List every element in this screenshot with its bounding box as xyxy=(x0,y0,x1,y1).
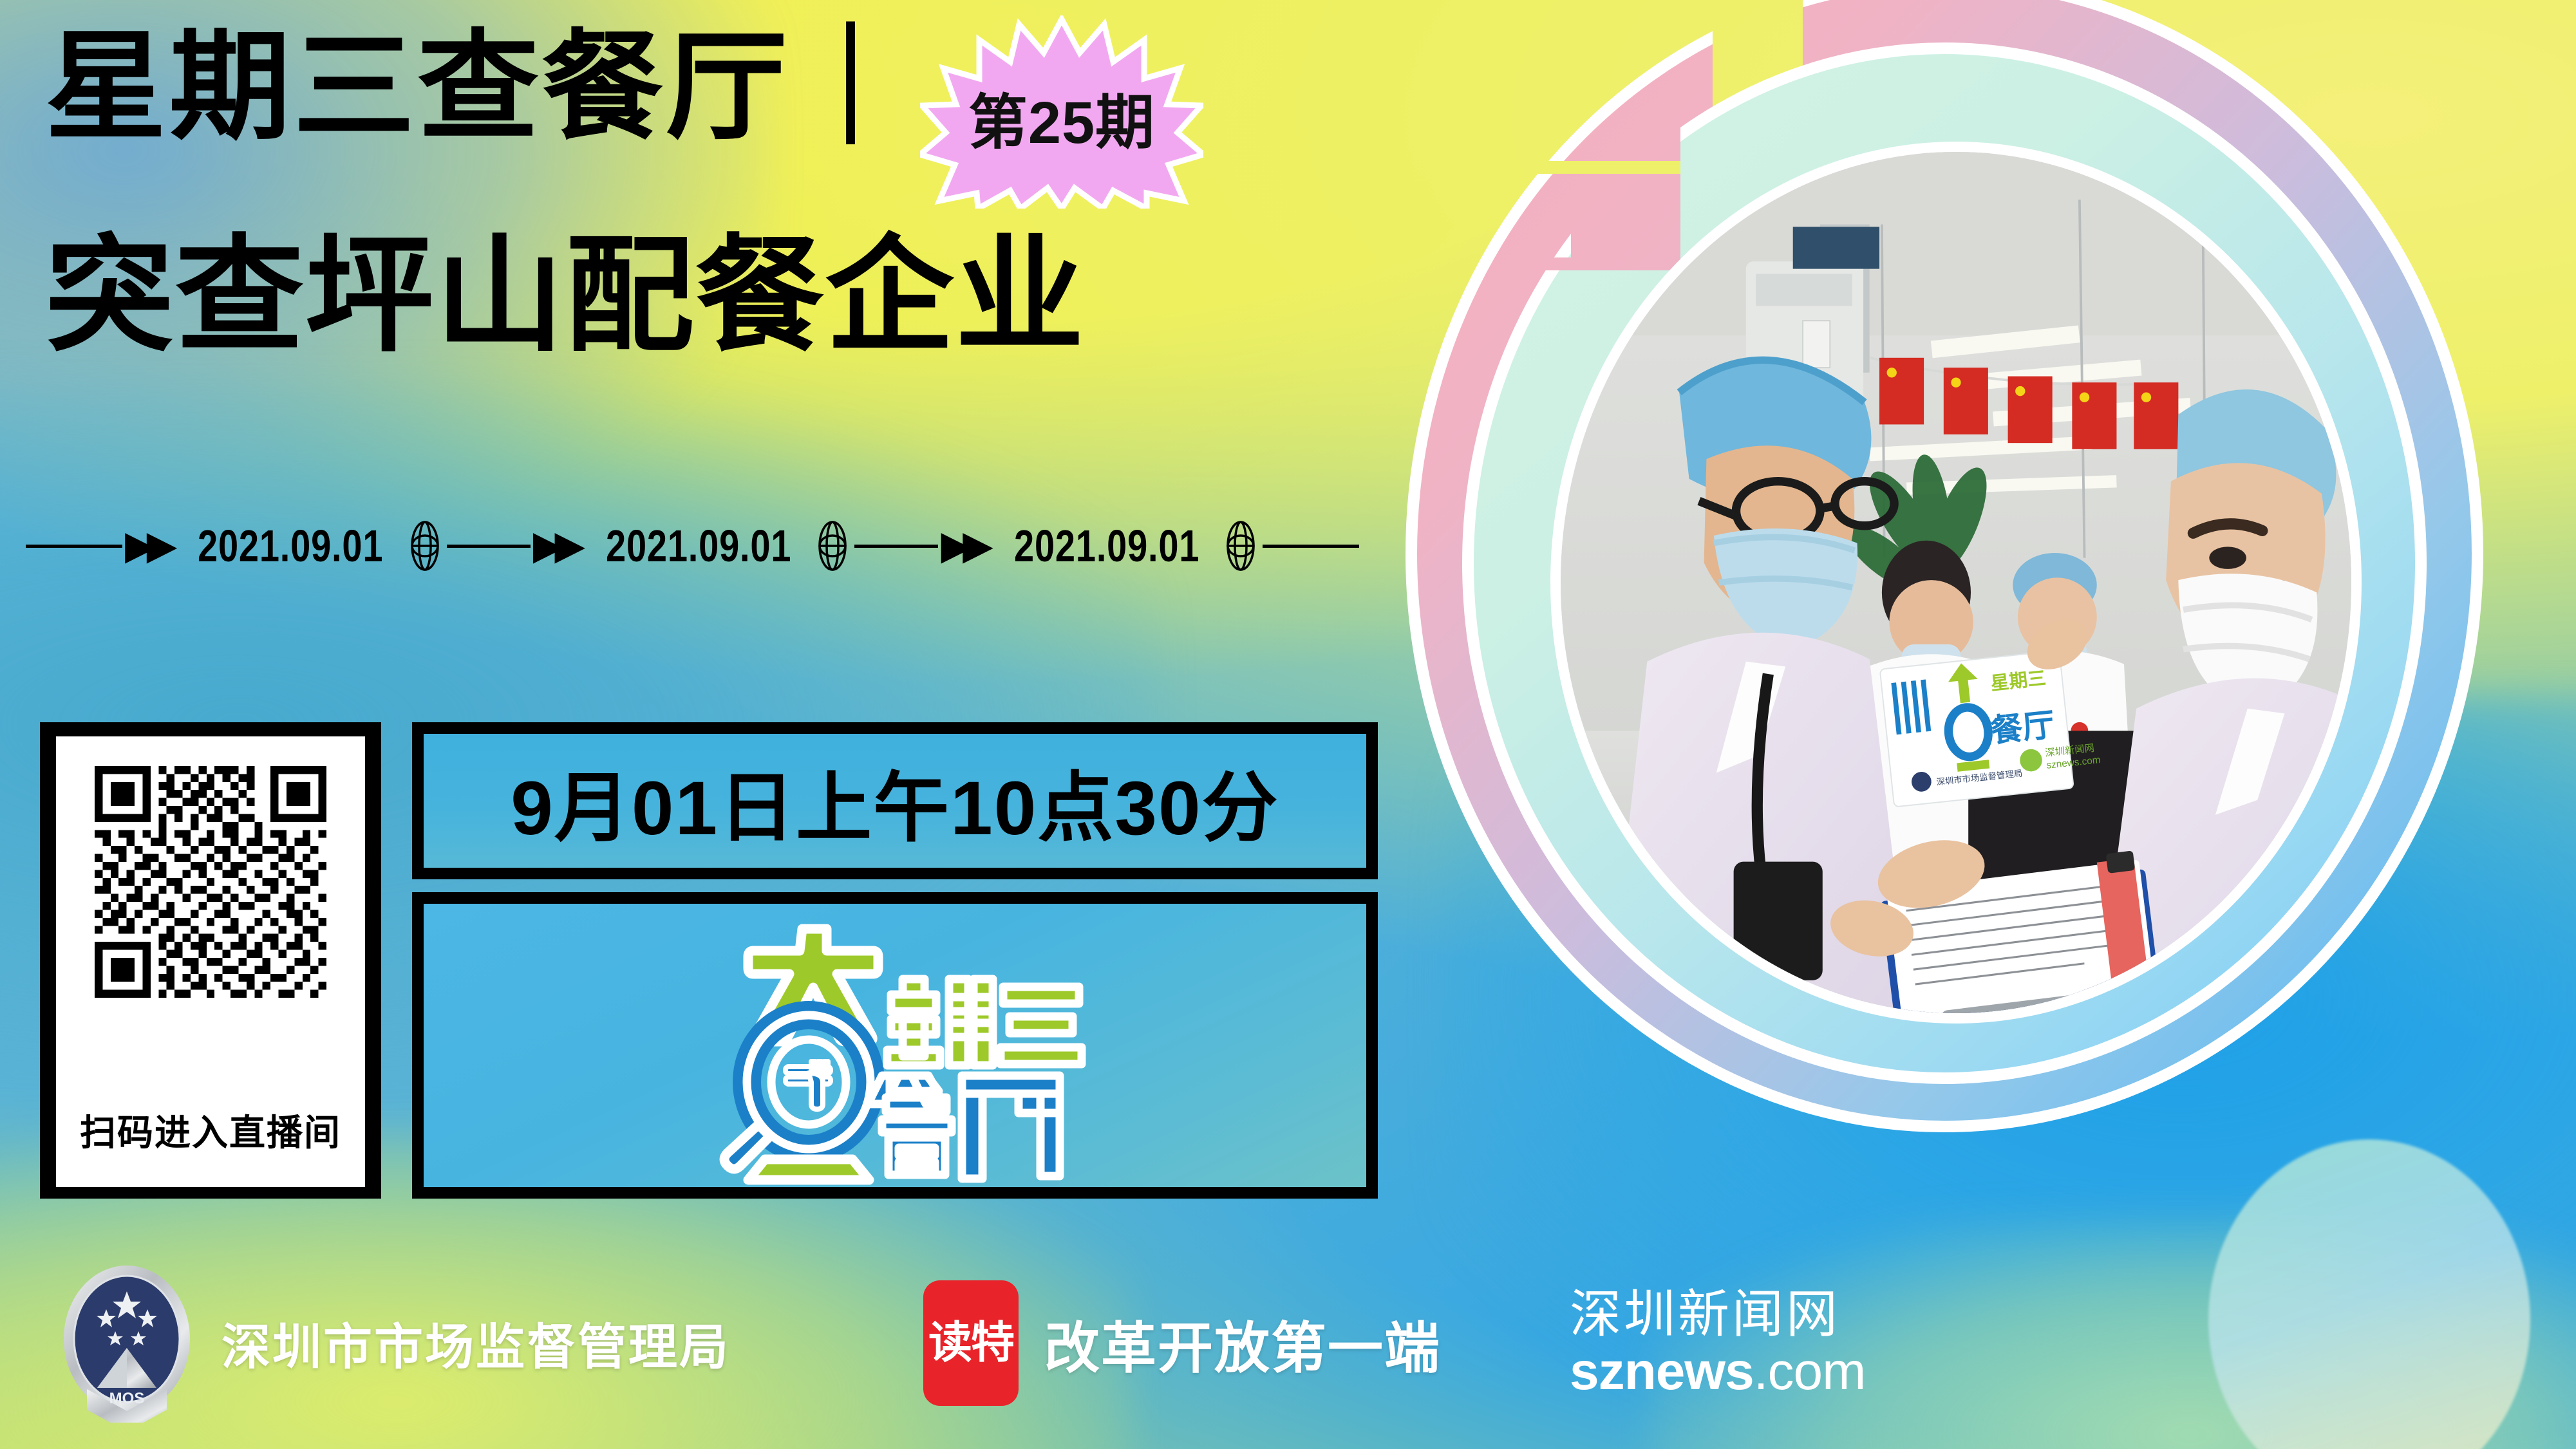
schedule-box: 9月01日上午10点30分 xyxy=(412,722,1378,879)
info-stack: 9月01日上午10点30分 xyxy=(412,722,1378,1199)
footer-dute-block: 读特 改革开放第一端 xyxy=(923,1280,1441,1406)
dute-badge: 读特 xyxy=(923,1280,1019,1406)
footer-sznews-en-rest: .com xyxy=(1754,1342,1866,1401)
footer-sznews-en-bold: sznews xyxy=(1570,1342,1754,1401)
poster-root: 星期三 餐厅 深圳新闻网 sznews.com 深圳市市场监督管理局 xyxy=(0,0,2576,1449)
qr-code-icon[interactable] xyxy=(95,766,326,998)
date-strip-rule xyxy=(447,545,531,548)
qr-card[interactable]: 扫码进入直播间 xyxy=(40,722,381,1199)
globe-icon xyxy=(1224,521,1257,571)
mos-emblem-icon: MOS xyxy=(61,1263,193,1423)
inspection-photo: 星期三 餐厅 深圳新闻网 sznews.com 深圳市市场监督管理局 xyxy=(1550,142,2362,1024)
footer-dute-label: 改革开放第一端 xyxy=(1044,1303,1441,1383)
date-strip-date-1: 2021.09.01 xyxy=(198,520,383,572)
double-arrow-icon: ▶▶ xyxy=(125,526,168,566)
svg-text:餐厅: 餐厅 xyxy=(1989,707,2056,749)
inspection-photo-illustration: 星期三 餐厅 深圳新闻网 sznews.com 深圳市市场监督管理局 xyxy=(1561,152,2351,1013)
magnifier-fork-icon xyxy=(689,904,1101,1187)
poster-title-line-2: 突查坪山配餐企业 xyxy=(45,233,1444,359)
double-arrow-icon: ▶▶ xyxy=(533,526,576,566)
footer-sznews-en: sznews.com xyxy=(1570,1345,1865,1398)
footer-mos-block: MOS 深圳市市场监督管理局 xyxy=(61,1263,730,1423)
photo-frame: 星期三 餐厅 深圳新闻网 sznews.com 深圳市市场监督管理局 xyxy=(1378,0,2511,1197)
double-arrow-icon: ▶▶ xyxy=(941,526,984,566)
date-strip: ▶▶ 2021.09.01 ▶▶ 2021.09.01 ▶▶ 2021.09.0… xyxy=(26,515,1397,577)
date-strip-rule xyxy=(26,545,122,548)
schedule-time: 9月01日上午10点30分 xyxy=(511,746,1279,856)
poster-title-line-1: 星期三查餐厅｜ xyxy=(45,28,914,147)
issue-badge: 第25期 xyxy=(920,15,1203,209)
footer-sznews-cn: 深圳新闻网 xyxy=(1570,1287,1840,1341)
globe-icon xyxy=(816,521,849,571)
date-strip-date-2: 2021.09.01 xyxy=(606,520,791,572)
issue-badge-label: 第25期 xyxy=(968,75,1155,160)
date-strip-date-3: 2021.09.01 xyxy=(1014,520,1199,572)
brand-logo-box xyxy=(412,892,1378,1199)
date-strip-rule xyxy=(1263,545,1359,548)
footer: MOS 深圳市市场监督管理局 读特 改革开放第一端 深圳新闻网 sznews.c… xyxy=(0,1237,2576,1449)
footer-sznews-block: 深圳新闻网 sznews.com xyxy=(1570,1287,1865,1398)
date-strip-rule xyxy=(854,545,938,548)
mos-emblem-text: MOS xyxy=(109,1390,145,1407)
qr-caption: 扫码进入直播间 xyxy=(80,1104,341,1156)
footer-mos-label: 深圳市市场监督管理局 xyxy=(221,1307,730,1378)
title-block: 星期三查餐厅｜ 第25期 突查坪山配餐企业 xyxy=(45,19,1416,359)
qr-card-inner: 扫码进入直播间 xyxy=(56,736,365,1187)
globe-icon xyxy=(408,521,442,571)
